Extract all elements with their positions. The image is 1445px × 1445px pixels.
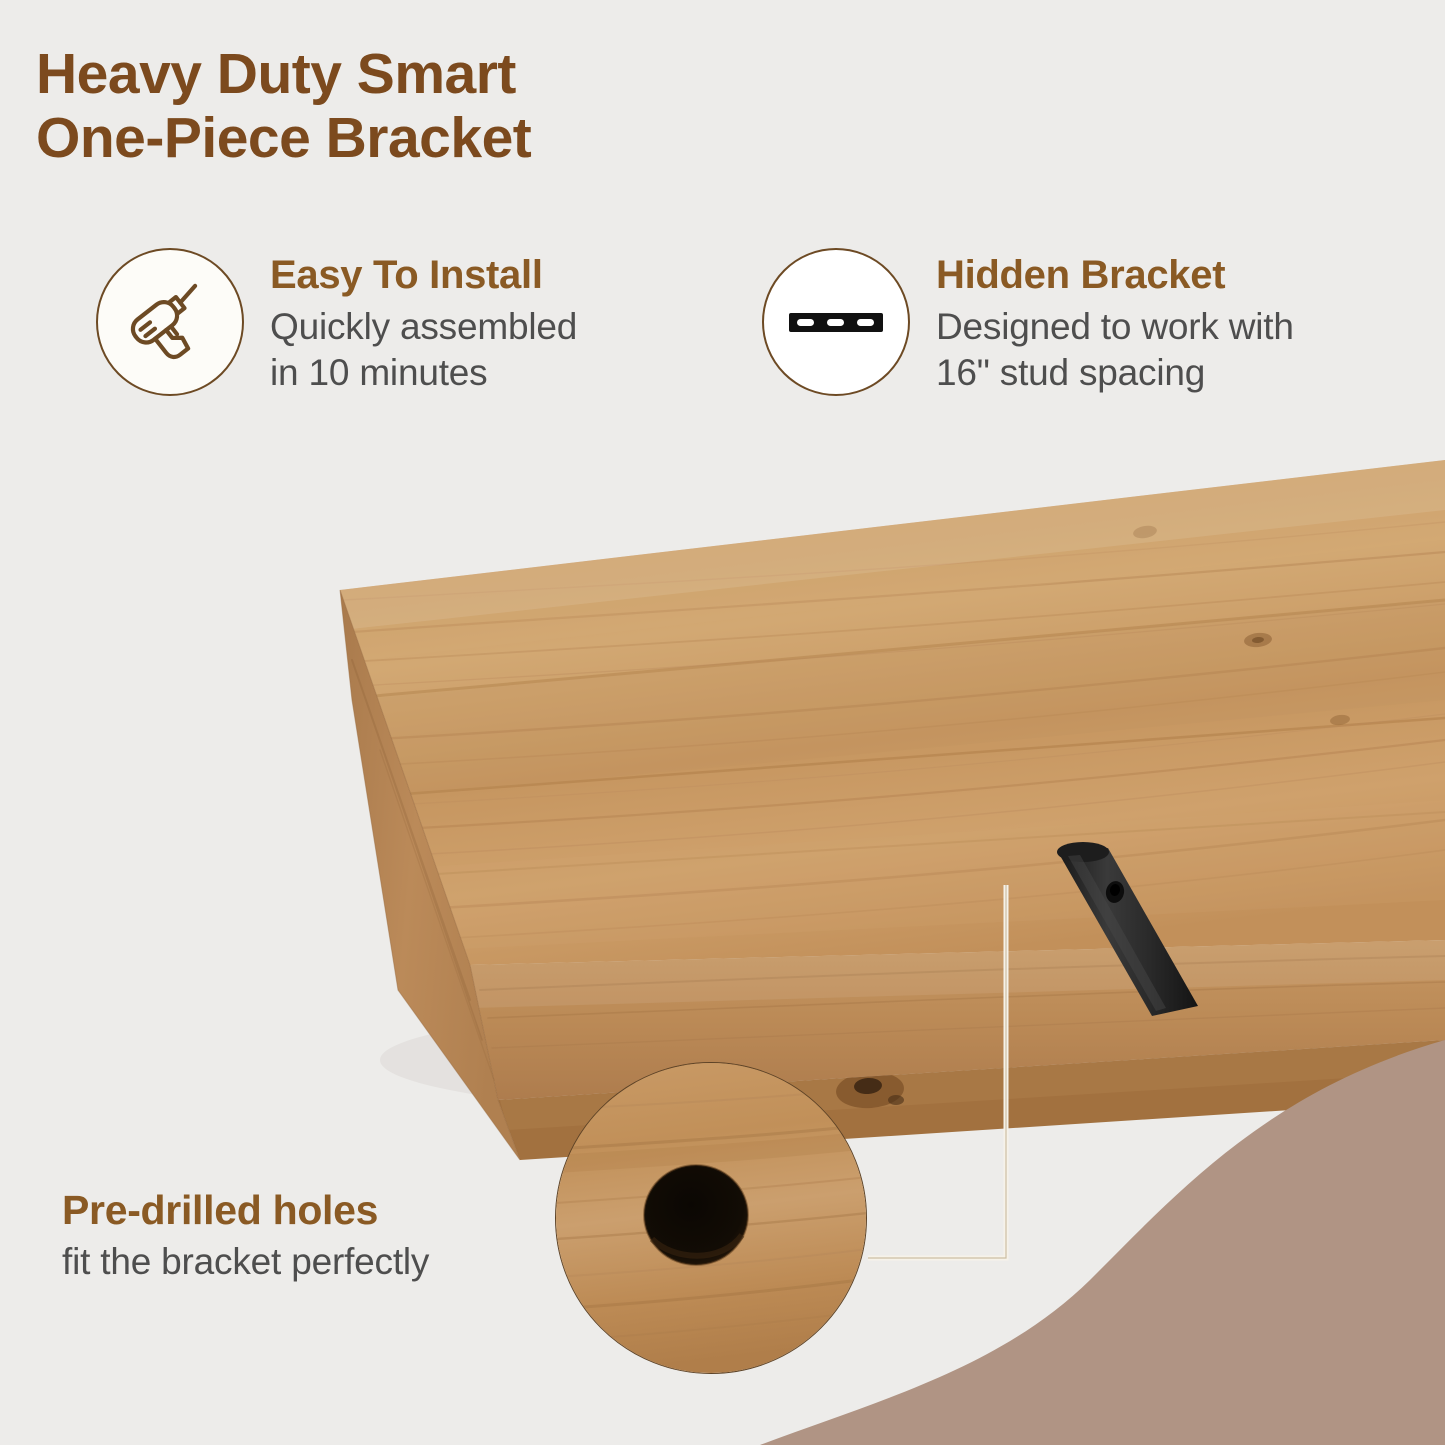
caption-heading: Pre-drilled holes xyxy=(62,1185,429,1235)
feature-easy-to-install: Easy To Install Quickly assembled in 10 … xyxy=(96,248,577,396)
product-marketing-image: Heavy Duty Smart One-Piece Bracket Easy … xyxy=(0,0,1445,1445)
feature-heading: Hidden Bracket xyxy=(936,252,1294,298)
pre-drilled-holes-caption: Pre-drilled holes fit the bracket perfec… xyxy=(62,1185,429,1287)
feature-body: Designed to work with 16" stud spacing xyxy=(936,304,1294,396)
feature-body: Quickly assembled in 10 minutes xyxy=(270,304,577,396)
feature-hidden-bracket: Hidden Bracket Designed to work with 16"… xyxy=(762,248,1294,396)
drill-icon xyxy=(96,248,244,396)
flat-bracket-icon xyxy=(762,248,910,396)
caption-subtext: fit the bracket perfectly xyxy=(62,1237,429,1287)
pre-drilled-hole-detail xyxy=(555,1062,867,1374)
feature-text: Hidden Bracket Designed to work with 16"… xyxy=(936,248,1294,396)
feature-heading: Easy To Install xyxy=(270,252,577,298)
feature-text: Easy To Install Quickly assembled in 10 … xyxy=(270,248,577,396)
page-title: Heavy Duty Smart One-Piece Bracket xyxy=(36,42,856,170)
shelf-top-surface xyxy=(300,440,1445,1000)
